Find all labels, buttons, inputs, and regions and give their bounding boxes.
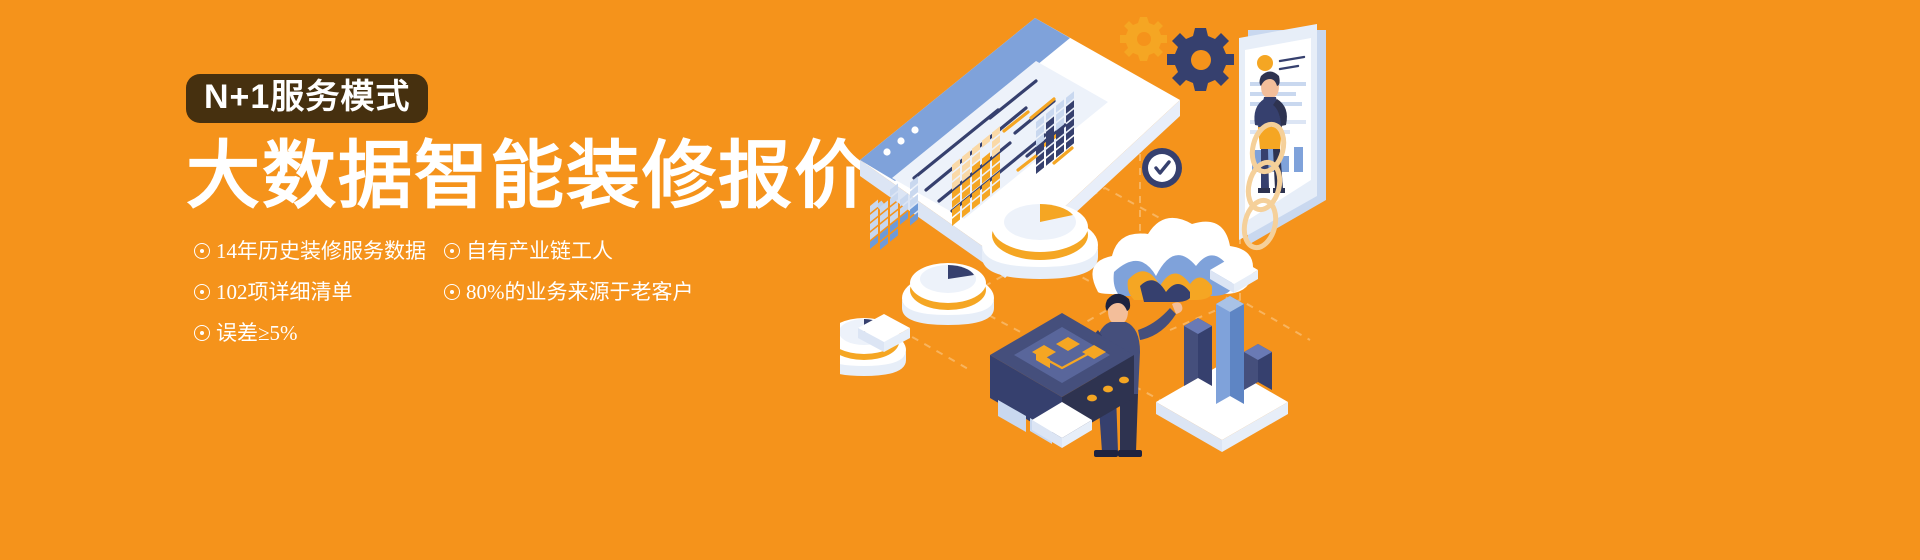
pie-chart-cylinder [902, 263, 994, 325]
circled-dot-icon [194, 284, 210, 300]
bar-chart-pedestal [1156, 296, 1288, 452]
check-circle-badge [1142, 148, 1182, 188]
list-item: 80%的业务来源于老客户 [444, 282, 694, 303]
gear-small-orange [1120, 17, 1167, 61]
feature-text: 80%的业务来源于老客户 [466, 282, 694, 303]
circled-dot-icon [444, 243, 460, 259]
list-item: 误差≥5% [194, 323, 426, 344]
list-item: 102项详细清单 [194, 282, 426, 303]
list-item: 14年历史装修服务数据 [194, 241, 426, 262]
feature-column-right: 自有产业链工人 80%的业务来源于老客户 [444, 241, 694, 323]
feature-list: 14年历史装修服务数据 102项详细清单 误差≥5% 自有产业链工人 [186, 241, 746, 361]
isometric-data-illustration [840, 0, 1400, 560]
feature-text: 14年历史装修服务数据 [216, 241, 426, 262]
page-title: 大数据智能装修报价 [186, 137, 886, 215]
feature-text: 自有产业链工人 [466, 241, 613, 262]
circled-dot-icon [444, 284, 460, 300]
banner-copy: N+1服务模式 大数据智能装修报价 14年历史装修服务数据 102项详细清单 误… [186, 74, 886, 361]
circled-dot-icon [194, 325, 210, 341]
promo-banner: N+1服务模式 大数据智能装修报价 14年历史装修服务数据 102项详细清单 误… [0, 0, 1920, 560]
circled-dot-icon [194, 243, 210, 259]
feature-text: 102项详细清单 [216, 282, 353, 303]
feature-text: 误差≥5% [216, 323, 298, 344]
gear-large-navy [1167, 28, 1234, 91]
service-model-badge: N+1服务模式 [186, 74, 428, 123]
feature-column-left: 14年历史装修服务数据 102项详细清单 误差≥5% [194, 241, 426, 364]
list-item: 自有产业链工人 [444, 241, 694, 262]
